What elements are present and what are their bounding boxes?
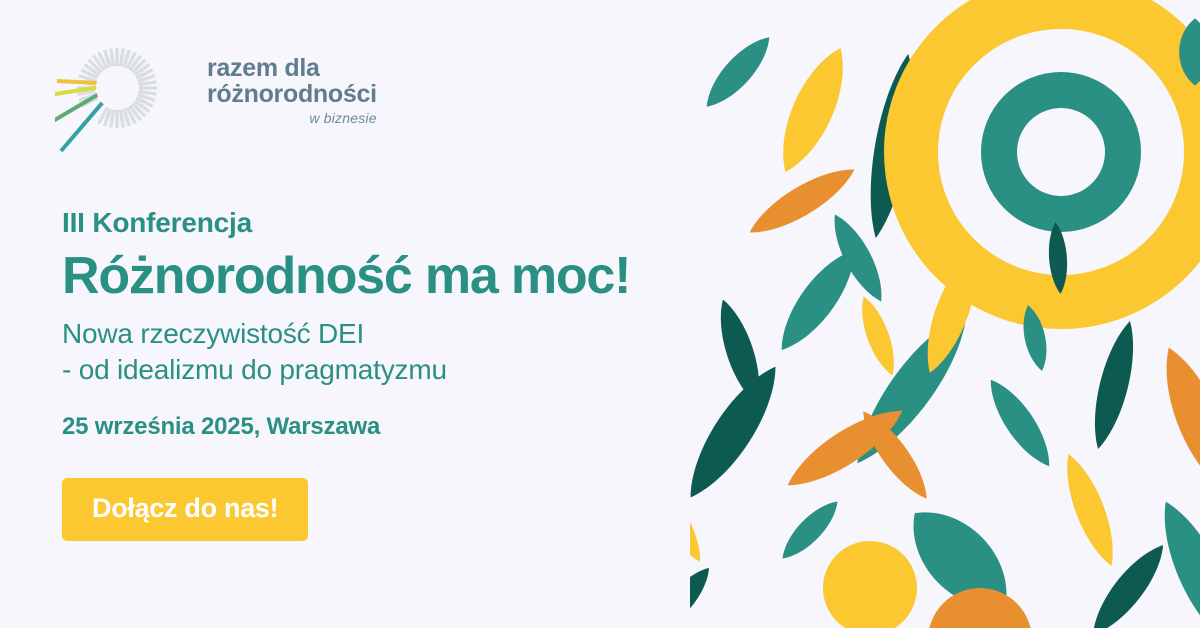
subtitle-line-2: - od idealizmu do pragmatyzmu bbox=[62, 352, 702, 388]
logo-line-2: różnorodności bbox=[207, 81, 377, 107]
main-content: III Konferencja Różnorodność ma moc! Now… bbox=[62, 206, 702, 541]
subtitle-line-1: Nowa rzeczywistość DEI bbox=[62, 316, 702, 352]
logo-wordmark: razem dla różnorodności w biznesie bbox=[207, 55, 377, 126]
brand-logo[interactable]: razem dla różnorodności w biznesie bbox=[55, 33, 375, 158]
sunburst-circle-logo-mark bbox=[55, 33, 170, 158]
date-location: 25 września 2025, Warszawa bbox=[62, 412, 702, 442]
leaf-pattern-decoration bbox=[690, 0, 1200, 628]
logo-tagline: w biznesie bbox=[207, 110, 377, 126]
conference-kicker: III Konferencja bbox=[62, 206, 702, 240]
leaf-group-bottom bbox=[690, 404, 1200, 628]
join-us-button[interactable]: Dołącz do nas! bbox=[62, 478, 308, 541]
conference-banner: razem dla różnorodności w biznesie III K… bbox=[0, 0, 1200, 628]
logo-line-1: razem dla bbox=[207, 55, 377, 81]
page-title: Różnorodność ma moc! bbox=[62, 246, 702, 306]
